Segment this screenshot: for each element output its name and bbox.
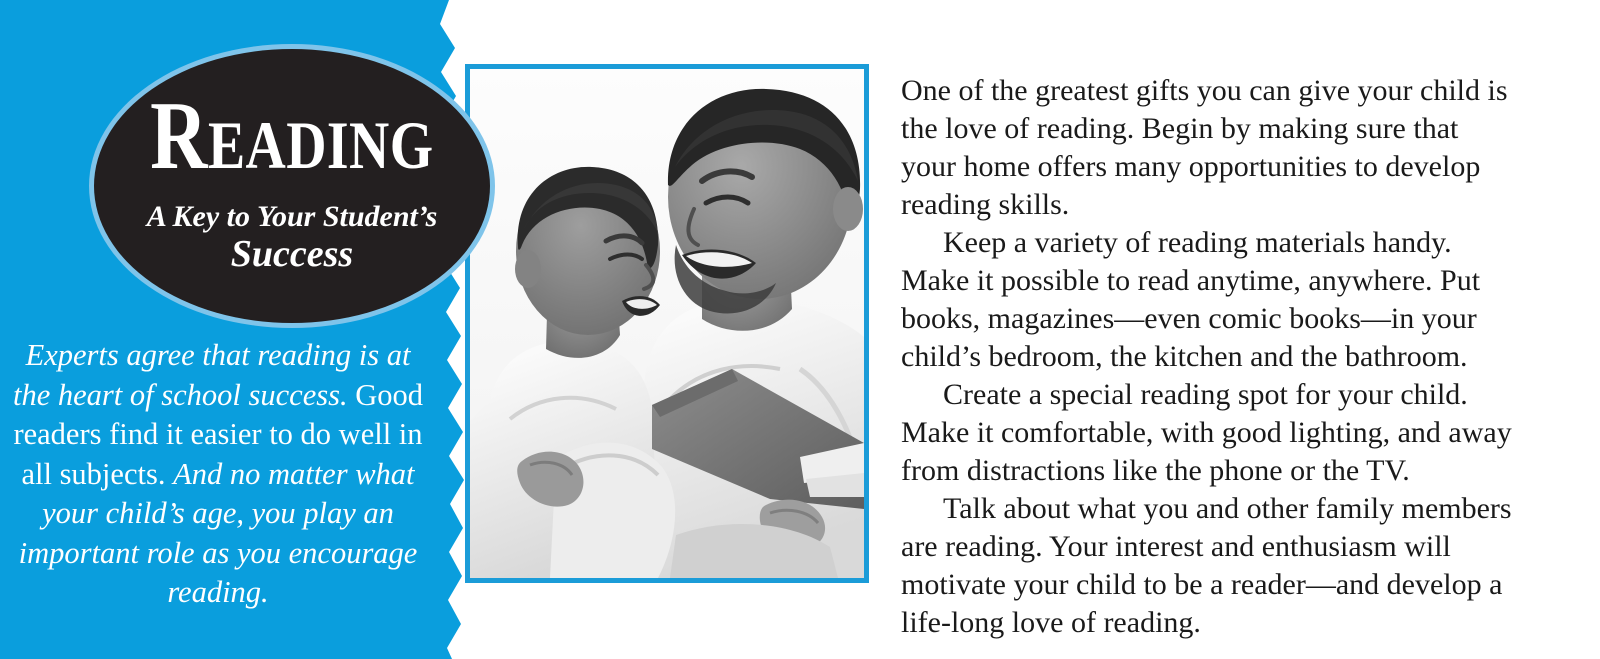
body-paragraph: Talk about what you and other family mem…: [901, 490, 1517, 642]
photo-frame: [465, 64, 869, 583]
pull-quote-segment-1: Experts agree that reading is at the hea…: [13, 338, 410, 412]
logo-subtitle-line1: A Key to Your Student’s: [147, 200, 438, 233]
body-paragraph: Keep a variety of reading materials hand…: [901, 224, 1517, 376]
newsletter-page: Reading A Key to Your Student’s Success …: [0, 0, 1600, 659]
body-paragraph: Create a special reading spot for your c…: [901, 376, 1517, 490]
logo-subtitle-line2: Success: [231, 235, 353, 275]
reading-photo: [470, 69, 864, 578]
body-paragraph: One of the greatest gifts you can give y…: [901, 72, 1517, 224]
reading-logo-badge: Reading A Key to Your Student’s Success: [94, 49, 490, 323]
pull-quote: Experts agree that reading is at the hea…: [8, 336, 428, 613]
article-body: One of the greatest gifts you can give y…: [901, 72, 1517, 642]
logo-title: Reading: [150, 87, 433, 184]
